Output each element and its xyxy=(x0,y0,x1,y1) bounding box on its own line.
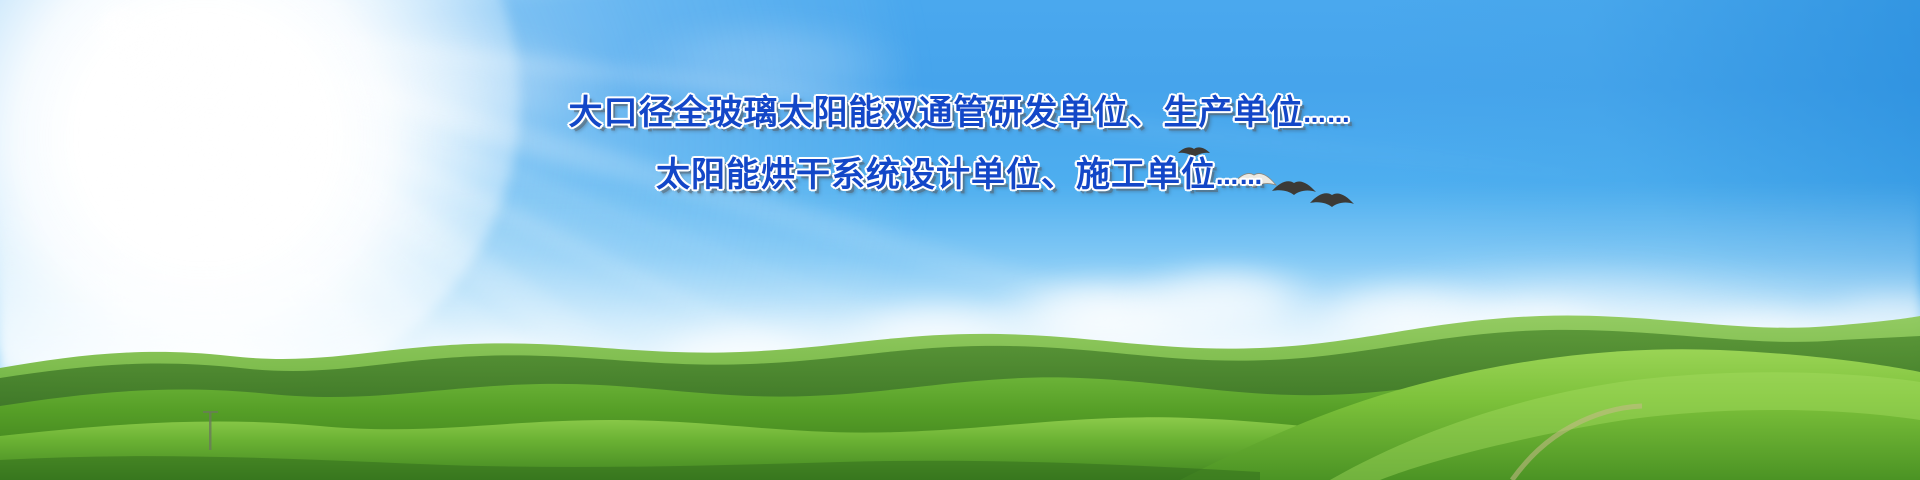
headline-line-1-text: 大口径全玻璃太阳能双通管研发单位、生产单位 xyxy=(569,93,1304,133)
headline-line-2-text: 太阳能烘干系统设计单位、施工单位 xyxy=(656,155,1216,195)
headline-line-2: 太阳能烘干系统设计单位、施工单位…… xyxy=(0,158,1920,192)
headline-line-1-ellipsis: …… xyxy=(1304,103,1352,128)
hero-banner: 大口径全玻璃太阳能双通管研发单位、生产单位…… 太阳能烘干系统设计单位、施工单位… xyxy=(0,0,1920,480)
headline-line-1: 大口径全玻璃太阳能双通管研发单位、生产单位…… xyxy=(0,96,1920,130)
headline-line-2-ellipsis: …… xyxy=(1216,165,1264,190)
green-hills xyxy=(0,260,1920,480)
headline: 大口径全玻璃太阳能双通管研发单位、生产单位…… 太阳能烘干系统设计单位、施工单位… xyxy=(0,96,1920,192)
